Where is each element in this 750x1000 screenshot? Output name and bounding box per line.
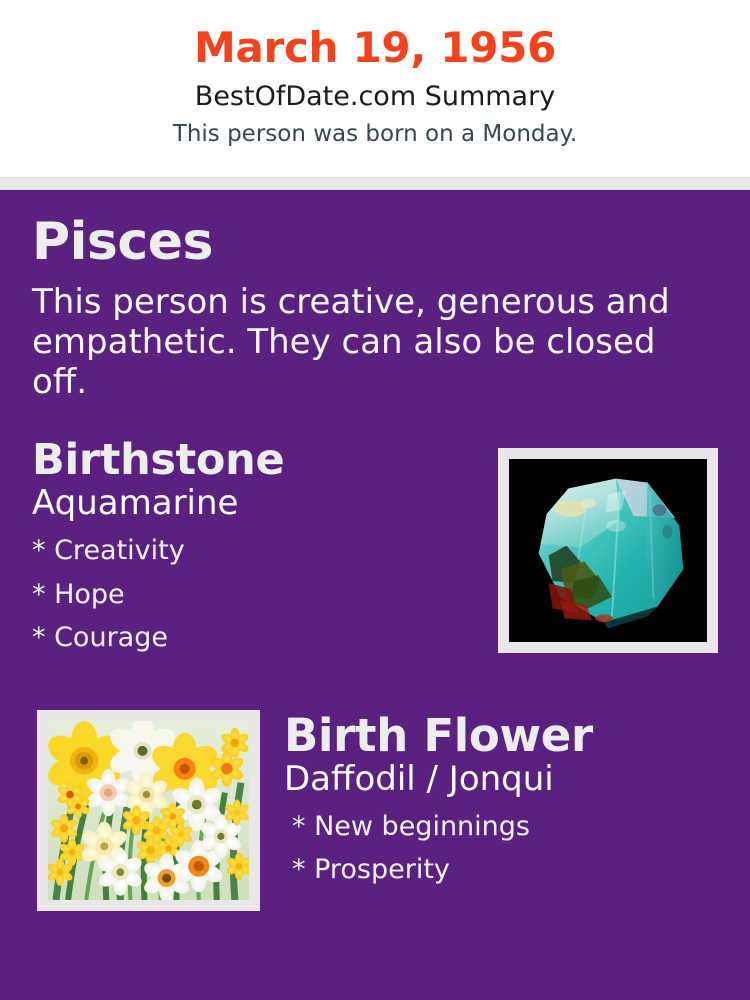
summary-card: March 19, 1956 BestOfDate.com Summary Th…	[0, 0, 750, 1000]
list-item: * Hope	[32, 573, 482, 617]
birth-flower-traits-list: * New beginnings * Prosperity	[284, 805, 718, 892]
birthstone-heading: Birthstone	[32, 438, 482, 483]
zodiac-description: This person is creative, generous and em…	[32, 282, 704, 402]
birth-flower-name: Daffodil / Jonqui	[284, 761, 718, 798]
page-title: March 19, 1956	[0, 26, 750, 70]
details-panel: Pisces This person is creative, generous…	[0, 190, 750, 1000]
birthstone-name: Aquamarine	[32, 485, 482, 522]
birth-flower-section: Birth Flower Daffodil / Jonqui * New beg…	[32, 710, 718, 915]
birth-flower-heading: Birth Flower	[284, 712, 718, 759]
birth-day-note: This person was born on a Monday.	[0, 122, 750, 146]
aquamarine-crystal-photo	[509, 459, 707, 642]
birth-flower-text: Birth Flower Daffodil / Jonqui * New beg…	[284, 710, 718, 892]
list-item: * New beginnings	[284, 805, 718, 849]
birthstone-text: Birthstone Aquamarine * Creativity * Hop…	[32, 438, 482, 660]
birthstone-traits-list: * Creativity * Hope * Courage	[32, 529, 482, 660]
birth-flower-image-frame	[37, 710, 260, 911]
birthstone-section: Birthstone Aquamarine * Creativity * Hop…	[32, 438, 718, 660]
list-item: * Prosperity	[284, 848, 718, 892]
header: March 19, 1956 BestOfDate.com Summary Th…	[0, 0, 750, 177]
header-divider	[0, 177, 750, 190]
site-name: BestOfDate.com Summary	[0, 83, 750, 111]
list-item: * Courage	[32, 616, 482, 660]
zodiac-sign-title: Pisces	[32, 216, 718, 268]
daffodil-flowers-photo	[48, 721, 249, 900]
zodiac-section: Pisces This person is creative, generous…	[32, 190, 718, 402]
birthstone-image-frame	[498, 448, 718, 653]
list-item: * Creativity	[32, 529, 482, 573]
